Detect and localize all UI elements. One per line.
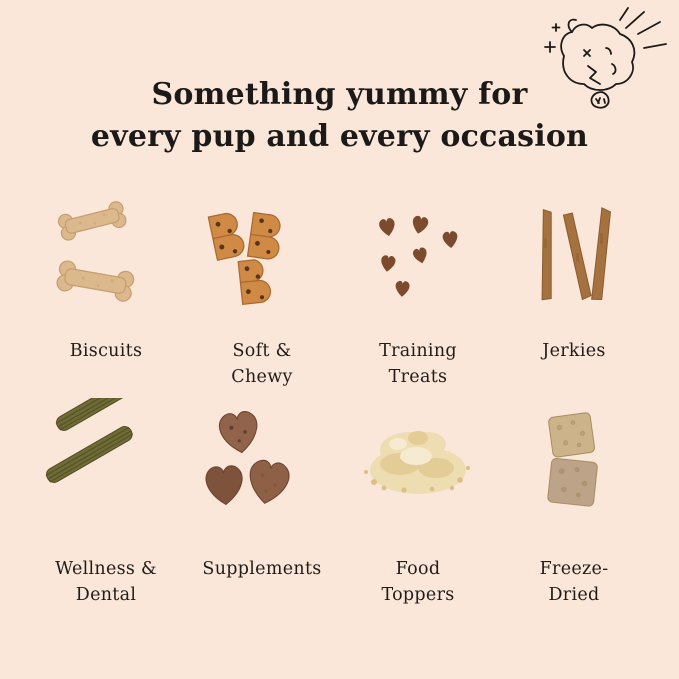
dental-chew-sticks-icon — [28, 398, 184, 548]
supplement-hearts-icon — [184, 398, 340, 548]
category-item-supplements: Supplements — [184, 398, 340, 613]
jerky-sticks-icon — [496, 198, 652, 330]
dog-head-doodle-icon — [528, 6, 668, 116]
category-item-food-toppers: Food Toppers — [340, 398, 496, 613]
training-treat-hearts-icon — [340, 198, 496, 330]
food-topper-powder-icon — [340, 398, 496, 548]
category-item-training-treats: Training Treats — [340, 198, 496, 398]
freeze-dried-cubes-icon — [496, 398, 652, 548]
category-label: Training Treats — [379, 338, 457, 390]
category-label: Freeze- Dried — [540, 556, 609, 608]
category-item-wellness-dental: Wellness & Dental — [28, 398, 184, 613]
category-label: Biscuits — [70, 338, 143, 364]
soft-chewy-letters-icon — [184, 198, 340, 330]
category-label: Wellness & Dental — [55, 556, 157, 608]
category-grid: Biscuits — [28, 198, 651, 613]
promo-graphic: Something yummy for every pup and every … — [0, 0, 679, 679]
dog-biscuit-bones-icon — [28, 198, 184, 330]
category-label: Food Toppers — [381, 556, 454, 608]
category-item-biscuits: Biscuits — [28, 198, 184, 398]
headline-line-2: every pup and every occasion — [0, 116, 679, 158]
category-label: Soft & Chewy — [231, 338, 292, 390]
category-label: Jerkies — [542, 338, 605, 364]
category-label: Supplements — [202, 556, 321, 582]
category-item-soft-chewy: Soft & Chewy — [184, 198, 340, 398]
category-item-jerkies: Jerkies — [496, 198, 652, 398]
category-item-freeze-dried: Freeze- Dried — [496, 398, 652, 613]
